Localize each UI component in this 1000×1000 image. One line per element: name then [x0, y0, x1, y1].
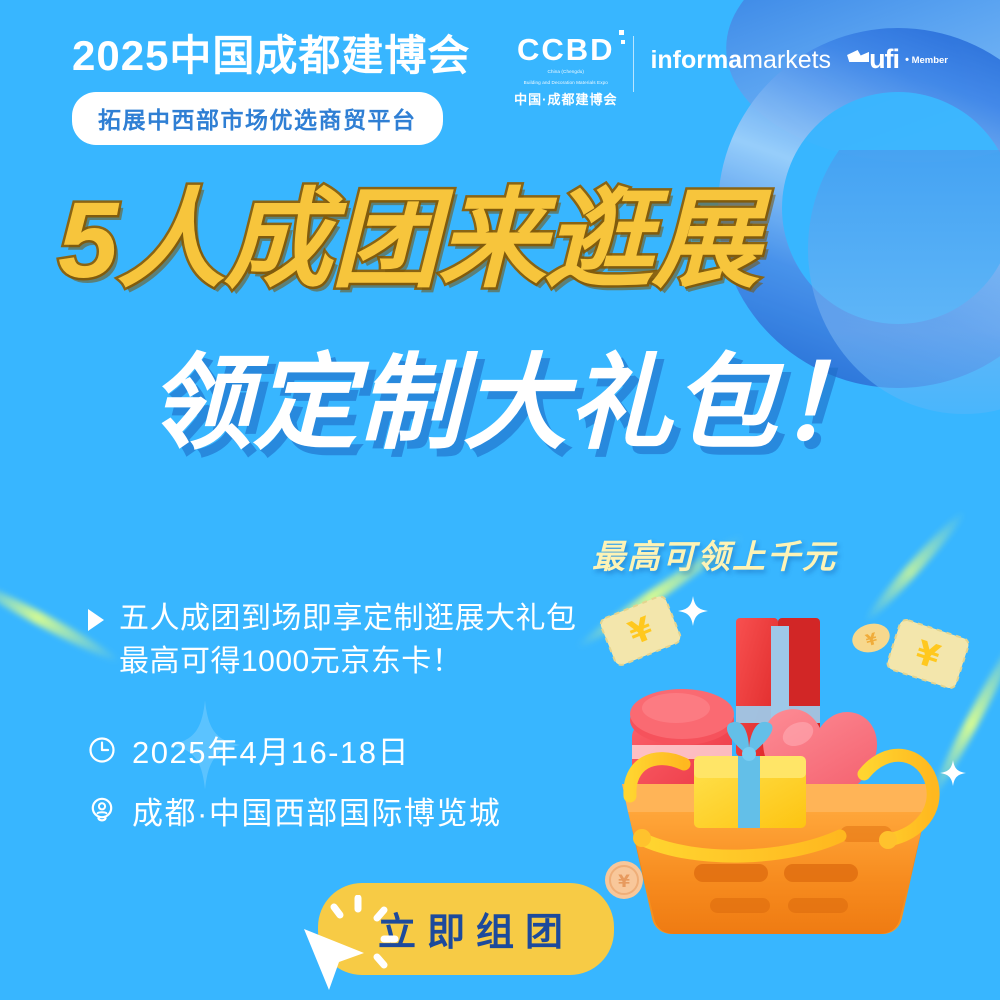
event-location-row: 成都·中国西部国际博览城 — [88, 788, 577, 833]
ccbd-dot-icon — [621, 40, 625, 44]
info-block: 五人成团到场即享定制逛展大礼包 最高可得1000元京东卡！ 2025年4月16-… — [88, 598, 577, 833]
ccbd-chinese-name: 中国·成都建博会 — [514, 89, 617, 108]
event-meta: 2025年4月16-18日 成都·中国西部国际博览城 — [88, 727, 577, 833]
reward-tagline: 最高可领上千元 — [592, 530, 837, 578]
event-location: 成都·中国西部国际博览城 — [132, 788, 501, 833]
handle-joint — [879, 831, 897, 849]
benefit-item: 五人成团到场即享定制逛展大礼包 最高可得1000元京东卡！ — [88, 598, 577, 683]
coin-bottom: ¥ — [605, 861, 643, 899]
coupon-ticket-left: ¥ — [599, 594, 683, 667]
ccbd-english-line-2: Building and Decoration Materials Expo — [524, 80, 608, 87]
svg-text:¥: ¥ — [618, 872, 630, 892]
headline-primary: 5人成团来逛展 — [58, 186, 759, 294]
benefit-line-2: 最高可得1000元京东卡！ — [119, 641, 577, 684]
cta-container: 立即组团 — [318, 883, 614, 975]
ufi-swoosh-icon — [847, 50, 869, 62]
coin-top: ¥ — [849, 620, 893, 657]
location-pin-icon — [88, 797, 116, 825]
ccbd-english-line-1: China (Chengdu) — [548, 69, 585, 76]
logo-cluster: CCBD China (Chengdu) Building and Decora… — [514, 34, 948, 108]
clock-icon — [88, 736, 116, 764]
ccbd-dot-icon — [619, 30, 624, 35]
event-date-row: 2025年4月16-18日 — [88, 727, 577, 772]
ufi-member-label: • Member — [905, 54, 948, 66]
gift-basket-illustration: ¥ ¥ ¥ ¥ — [588, 588, 1000, 1000]
ufi-wordmark-text: ufi — [869, 44, 899, 74]
ufi-member-text: Member — [912, 55, 948, 66]
ufi-logo: ufi • Member — [847, 46, 948, 73]
informa-markets-logo: informamarkets — [650, 48, 831, 73]
ufi-wordmark: ufi — [847, 46, 899, 73]
coupon-ticket-right: ¥ — [886, 618, 971, 690]
poster-canvas: 2025中国成都建博会 拓展中西部市场优选商贸平台 CCBD China (Ch… — [0, 0, 1000, 1000]
event-date: 2025年4月16-18日 — [132, 727, 410, 772]
handle-joint — [633, 829, 651, 847]
ccbd-logo: CCBD China (Chengdu) Building and Decora… — [514, 34, 617, 108]
click-cursor-icon — [298, 895, 406, 999]
triangle-right-icon — [88, 609, 104, 631]
benefit-text: 五人成团到场即享定制逛展大礼包 最高可得1000元京东卡！ — [119, 598, 577, 683]
informa-light-text: markets — [742, 46, 831, 74]
ccbd-wordmark: CCBD — [517, 34, 615, 65]
informa-bold-text: informa — [650, 46, 742, 74]
ufi-bullet-icon: • — [905, 54, 909, 66]
benefit-line-1: 五人成团到场即享定制逛展大礼包 — [119, 598, 577, 641]
headline-secondary: 领定制大礼包！ — [148, 352, 883, 456]
ccbd-wordmark-text: CCBD — [517, 32, 615, 67]
logo-divider — [633, 36, 634, 92]
tagline-badge: 拓展中西部市场优选商贸平台 — [72, 92, 443, 145]
